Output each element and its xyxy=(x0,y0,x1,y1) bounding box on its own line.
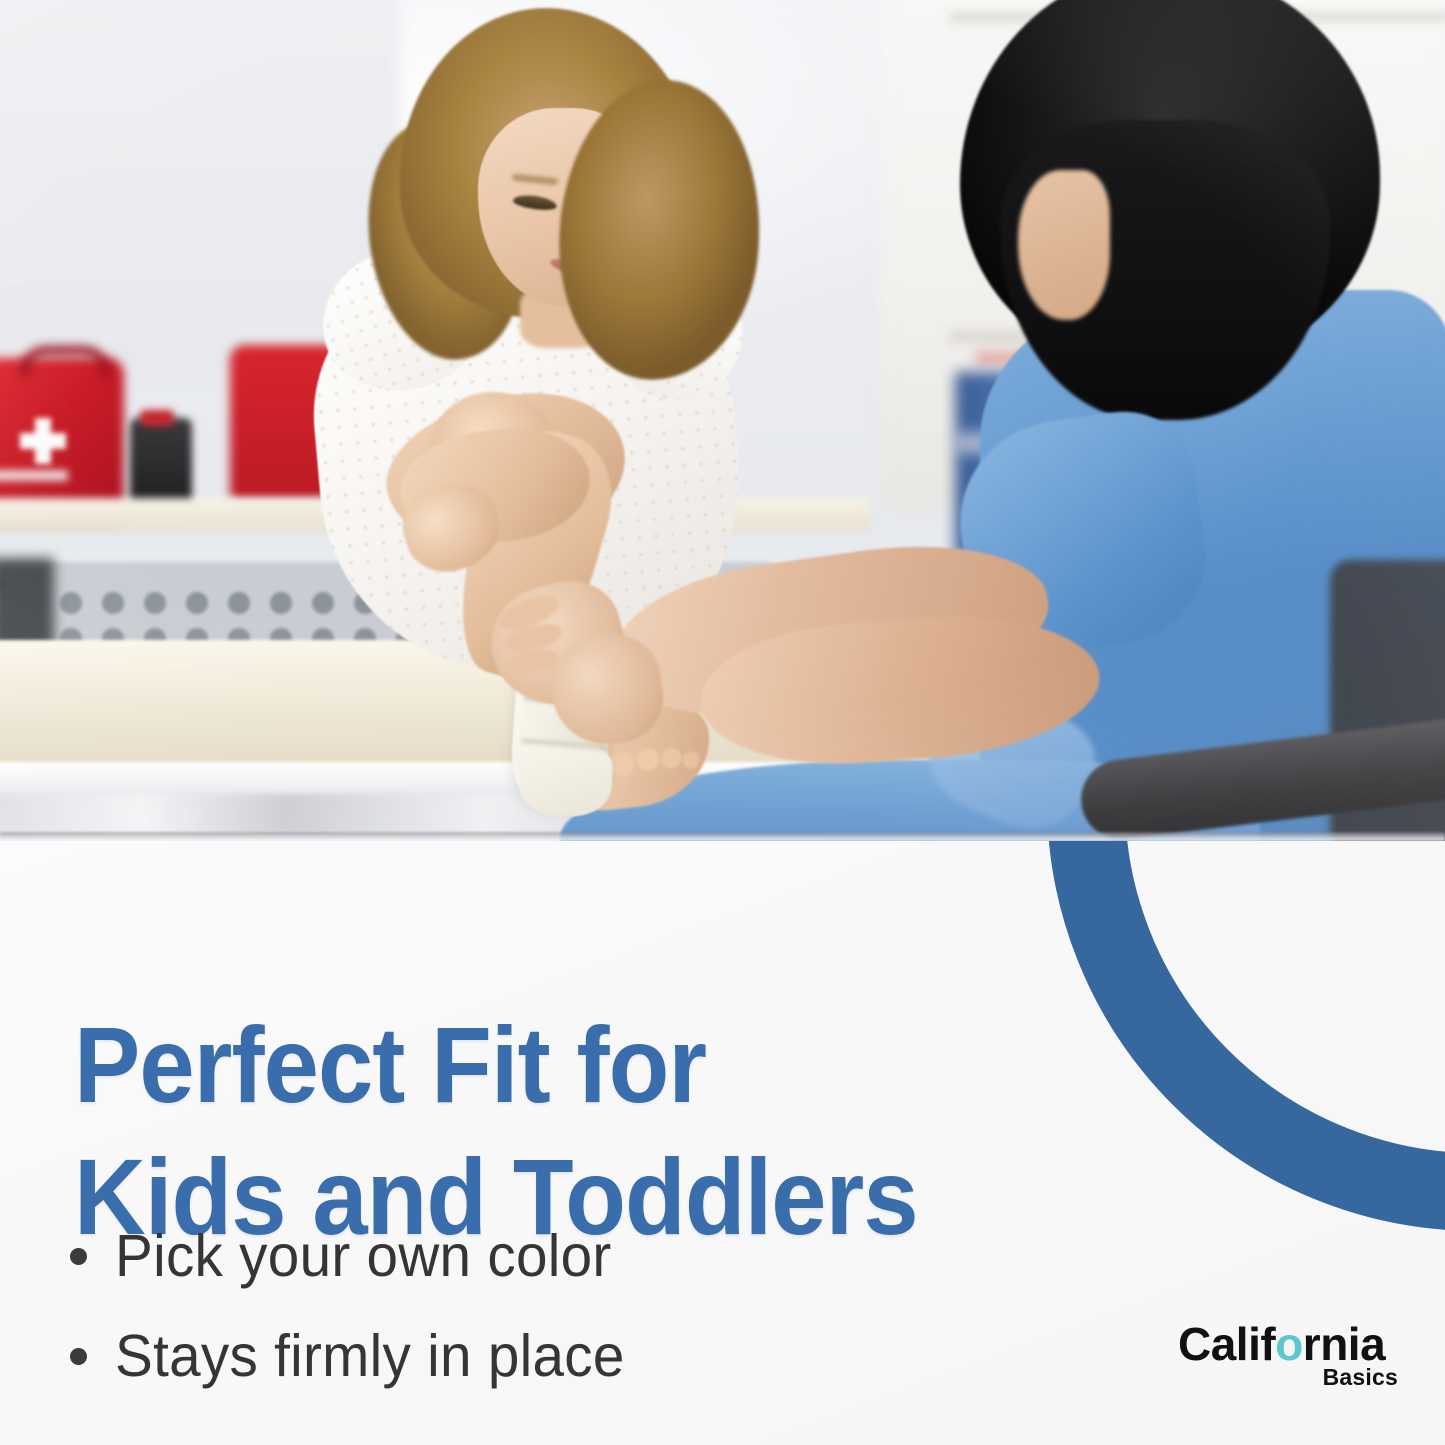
bullet-dot-icon xyxy=(70,1248,87,1265)
first-aid-bag-text xyxy=(0,470,68,481)
brand-name-part-2: rnia xyxy=(1303,1318,1385,1370)
brand-name-accent-o: o xyxy=(1275,1318,1303,1370)
brand-logo-tagline: Basics xyxy=(1323,1364,1398,1391)
elastic-bandage-foot xyxy=(518,742,614,819)
brand-logo: California Basics xyxy=(1178,1317,1400,1399)
brand-arc xyxy=(1047,841,1445,1231)
list-item: Pick your own color xyxy=(70,1226,646,1288)
product-lifestyle-photo xyxy=(0,0,1445,841)
feature-bullet-list: Pick your own color Stays firmly in plac… xyxy=(70,1226,646,1426)
nurse-face-profile xyxy=(1018,170,1110,320)
girl-toes xyxy=(600,742,716,796)
photo-bottom-seam xyxy=(0,832,1445,841)
bullet-dot-icon xyxy=(70,1348,87,1365)
brand-name-part-1: Calif xyxy=(1178,1318,1275,1370)
bullet-text: Pick your own color xyxy=(115,1226,612,1288)
black-container-cap xyxy=(140,410,174,426)
bullet-text: Stays firmly in place xyxy=(115,1326,625,1388)
first-aid-cross-icon-bar xyxy=(20,433,66,449)
marketing-image-canvas: Perfect Fit for Kids and Toddlers Pick y… xyxy=(0,0,1445,1445)
brand-logo-name: California xyxy=(1178,1317,1385,1371)
first-aid-bag-handle xyxy=(20,346,110,377)
list-item: Stays firmly in place xyxy=(70,1326,646,1388)
